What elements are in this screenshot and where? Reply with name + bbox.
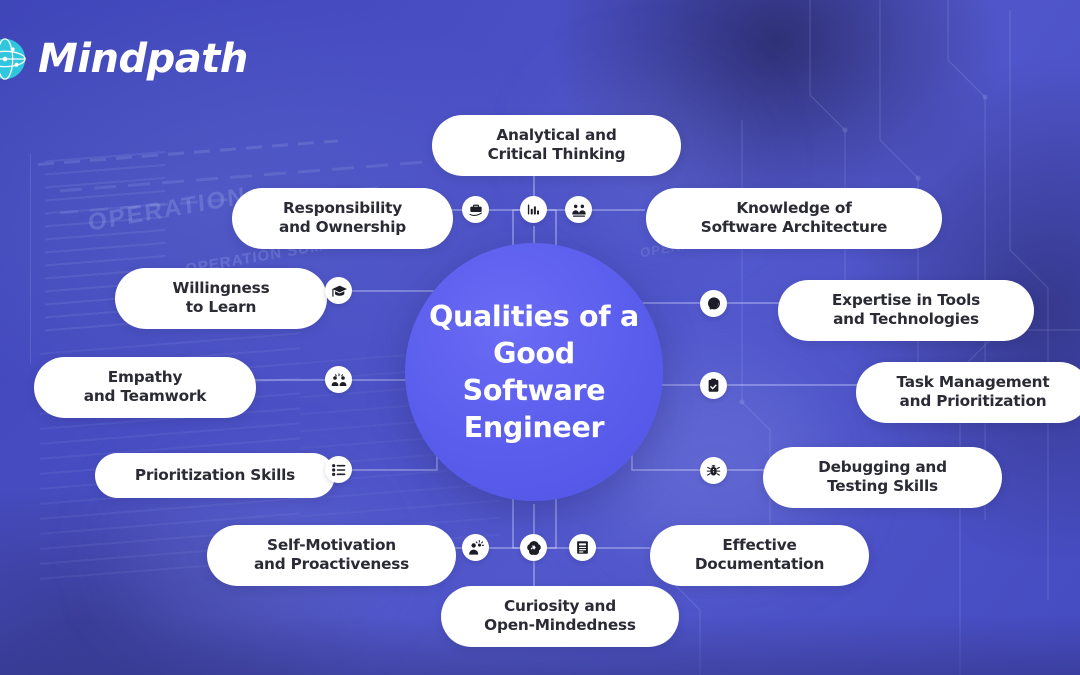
node-label: Debugging and Testing Skills bbox=[785, 458, 980, 497]
node-empathy-and-teamwork[interactable]: Empathy and Teamwork bbox=[34, 357, 256, 418]
person-idea-icon[interactable] bbox=[462, 534, 489, 561]
clipboard-check-icon-glyph bbox=[706, 378, 721, 393]
brand-logo[interactable]: Mindpath bbox=[0, 36, 248, 82]
node-architecture[interactable]: Knowledge of Software Architecture bbox=[646, 188, 942, 249]
node-label: Expertise in Tools and Technologies bbox=[800, 291, 1012, 330]
globe-network-icon bbox=[0, 36, 28, 82]
briefcase-hand-icon[interactable] bbox=[462, 196, 489, 223]
tools-wrench-icon-glyph bbox=[706, 296, 722, 312]
center-node: Qualities of a Good Software Engineer bbox=[405, 243, 663, 501]
clipboard-check-icon[interactable] bbox=[700, 372, 727, 399]
bug-icon[interactable] bbox=[700, 457, 727, 484]
node-label: Self-Motivation and Proactiveness bbox=[229, 536, 434, 575]
bar-chart-icon[interactable] bbox=[520, 196, 547, 223]
node-label: Responsibility and Ownership bbox=[254, 199, 431, 238]
center-title: Qualities of a Good Software Engineer bbox=[405, 298, 663, 446]
node-prioritization-skills[interactable]: Prioritization Skills bbox=[95, 453, 335, 498]
brand-name: Mindpath bbox=[38, 39, 248, 79]
bug-icon-glyph bbox=[706, 463, 721, 478]
node-label: Curiosity and Open-Mindedness bbox=[463, 597, 657, 636]
checklist-icon-glyph bbox=[331, 462, 347, 478]
node-curiosity[interactable]: Curiosity and Open-Mindedness bbox=[441, 586, 679, 647]
node-label: Analytical and Critical Thinking bbox=[454, 126, 659, 165]
architecture-people-icon-glyph bbox=[571, 202, 587, 218]
infographic-canvas: OPERATION OPERATION SUMMARY OPERATION SE… bbox=[0, 0, 1080, 675]
node-label: Willingness to Learn bbox=[137, 279, 305, 318]
node-label: Knowledge of Software Architecture bbox=[668, 199, 920, 238]
document-icon[interactable] bbox=[569, 534, 596, 561]
node-responsibility[interactable]: Responsibility and Ownership bbox=[232, 188, 453, 249]
graduation-cap-icon[interactable] bbox=[325, 277, 352, 304]
node-label: Empathy and Teamwork bbox=[56, 368, 234, 407]
brain-puzzle-icon[interactable] bbox=[520, 534, 547, 561]
node-self-motivation[interactable]: Self-Motivation and Proactiveness bbox=[207, 525, 456, 586]
person-idea-icon-glyph bbox=[468, 540, 484, 556]
node-analytical[interactable]: Analytical and Critical Thinking bbox=[432, 115, 681, 176]
node-expertise-in-tools[interactable]: Expertise in Tools and Technologies bbox=[778, 280, 1034, 341]
architecture-people-icon[interactable] bbox=[565, 196, 592, 223]
checklist-icon[interactable] bbox=[325, 456, 352, 483]
node-label: Effective Documentation bbox=[672, 536, 847, 575]
bar-chart-icon-glyph bbox=[526, 202, 541, 217]
brain-puzzle-icon-glyph bbox=[526, 540, 542, 556]
teamwork-people-icon[interactable] bbox=[325, 366, 352, 393]
briefcase-hand-icon-glyph bbox=[468, 202, 484, 218]
node-label: Task Management and Prioritization bbox=[878, 373, 1068, 412]
node-debugging[interactable]: Debugging and Testing Skills bbox=[763, 447, 1002, 508]
teamwork-people-icon-glyph bbox=[331, 372, 347, 388]
node-willingness-to-learn[interactable]: Willingness to Learn bbox=[115, 268, 327, 329]
tools-wrench-icon[interactable] bbox=[700, 290, 727, 317]
node-effective-documentation[interactable]: Effective Documentation bbox=[650, 525, 869, 586]
document-icon-glyph bbox=[575, 540, 590, 555]
node-task-management[interactable]: Task Management and Prioritization bbox=[856, 362, 1080, 423]
graduation-cap-icon-glyph bbox=[331, 283, 347, 299]
node-label: Prioritization Skills bbox=[117, 466, 313, 485]
